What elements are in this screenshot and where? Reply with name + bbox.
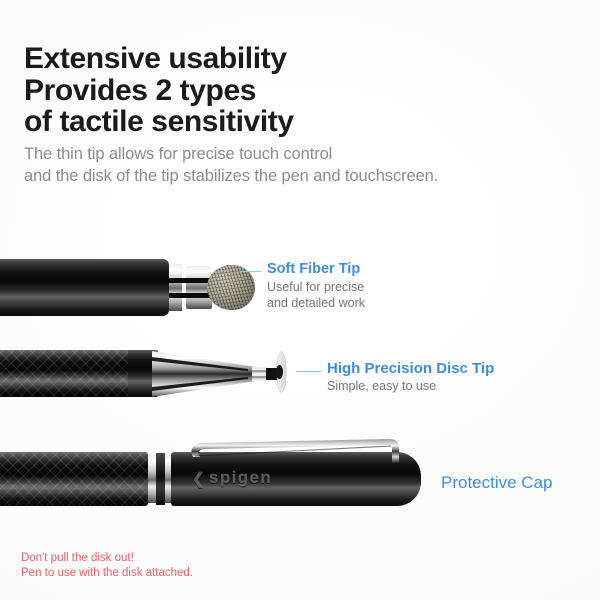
callout-soft-fiber-tip: Soft Fiber Tip Useful for precise and de… [267,261,365,311]
pen-grip-knurled [0,350,132,397]
pen-barrel-smooth [0,259,169,316]
callout-title: High Precision Disc Tip [327,360,494,377]
warning-line-1: Don't pull the disk out! [21,551,193,566]
warning-note: Don't pull the disk out! Pen to use with… [21,551,193,581]
callout-subtext: Useful for precise and detailed work [267,280,365,311]
brand-logo: ❮spigen [192,468,272,488]
subtitle-line-1: The thin tip allows for precise touch co… [24,143,584,165]
leader-line-disc-tip [296,371,322,372]
callout-subtext: Simple, easy to use [327,379,494,395]
callout-high-precision-disc-tip: High Precision Disc Tip Simple, easy to … [327,360,494,395]
brand-mark-icon: ❮ [192,470,206,488]
pen-grip-knurled [0,452,148,506]
chrome-cone [152,348,284,400]
chrome-ring-1 [169,264,182,311]
page-title: Extensive usability Provides 2 types of … [24,43,544,138]
brand-name: spigen [209,468,272,487]
headline-line-1: Extensive usability [24,43,544,75]
headline-line-3: of tactile sensitivity [24,106,544,138]
callout-subtext-line-1: Useful for precise [267,280,365,296]
disc-hub [276,365,283,379]
callout-subtext-line-2: and detailed work [267,296,365,312]
chrome-ring-1 [148,455,156,503]
page-subtitle: The thin tip allows for precise touch co… [24,143,584,187]
warning-line-2: Pen to use with the disk attached. [21,566,193,581]
product-feature-graphic: Extensive usability Provides 2 types of … [0,0,600,600]
callout-subtext-line-1: Simple, easy to use [327,379,494,395]
leader-line-fiber-tip [240,271,262,272]
headline-line-2: Provides 2 types [24,75,544,107]
callout-protective-cap: Protective Cap [441,474,553,491]
ring-gap-black [156,453,165,505]
callout-title: Protective Cap [441,474,553,491]
callout-title: Soft Fiber Tip [267,261,365,278]
subtitle-line-2: and the disk of the tip stabilizes the p… [24,165,584,187]
